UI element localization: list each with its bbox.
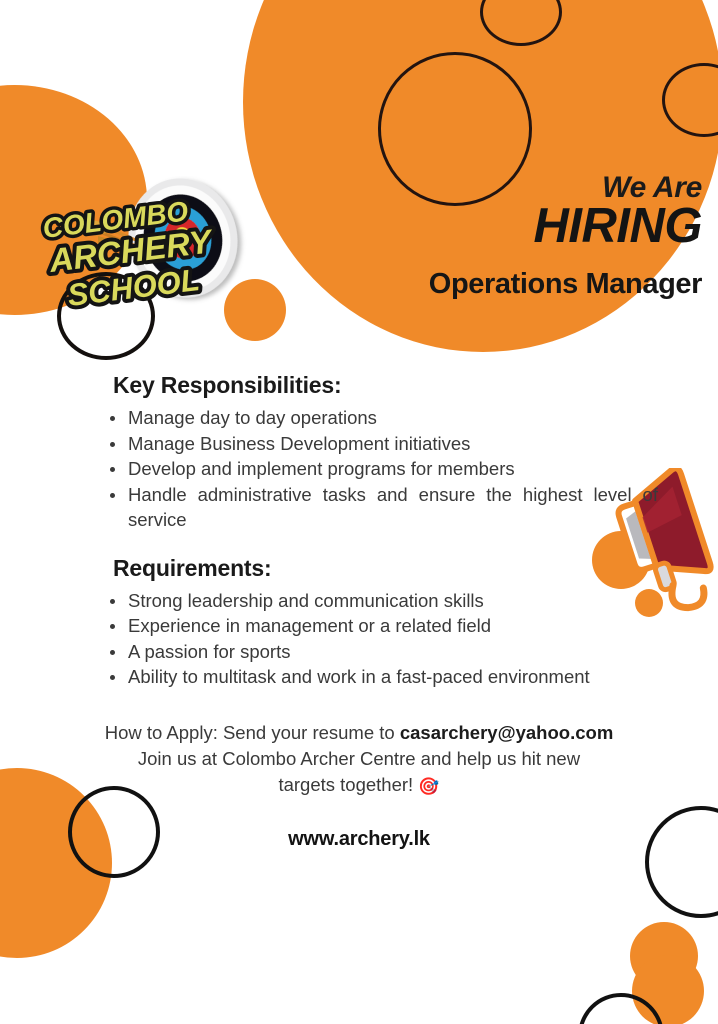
targets-together-line: targets together! 🎯 [0,772,718,800]
requirements-list: Strong leadership and communication skil… [0,588,718,690]
decorative-ring-bottom-edge [578,993,664,1024]
decorative-ring-top-small [480,0,562,46]
website-link[interactable]: www.archery.lk [0,828,718,851]
decorative-circle-bottom-right [630,922,698,990]
flyer-body: Key Responsibilities: Manage day to day … [0,372,718,692]
responsibilities-section: Key Responsibilities: Manage day to day … [0,372,718,533]
requirements-section: Requirements: Strong leadership and comm… [0,555,718,690]
list-item: Manage Business Development initiatives [110,431,658,457]
how-to-apply-line: How to Apply: Send your resume to casarc… [0,720,718,746]
apply-prefix-text: How to Apply: Send your resume to [105,722,400,743]
header-block: We Are HIRING Operations Manager [330,172,702,301]
list-item: Strong leadership and communication skil… [110,588,658,614]
targets-text: targets together! [278,774,418,795]
list-item: Handle administrative tasks and ensure t… [110,482,658,533]
list-item: Manage day to day operations [110,405,658,431]
list-item: Develop and implement programs for membe… [110,456,658,482]
responsibilities-list: Manage day to day operations Manage Busi… [0,405,718,533]
requirements-heading: Requirements: [113,555,718,582]
decorative-ring-top-right [662,63,718,137]
decorative-circle-bottom-edge [632,955,704,1024]
join-us-line: Join us at Colombo Archer Centre and hel… [0,746,718,772]
responsibilities-heading: Key Responsibilities: [113,372,718,399]
colombo-archery-school-logo: COLOMBO COLOMBO ARCHERY ARCHERY SCHOOL S… [33,176,248,326]
list-item: Ability to multitask and work in a fast-… [110,664,658,690]
target-emoji-icon: 🎯 [418,777,439,796]
job-posting-flyer: COLOMBO COLOMBO ARCHERY ARCHERY SCHOOL S… [0,0,718,1024]
footer-block: How to Apply: Send your resume to casarc… [0,720,718,851]
apply-email-link[interactable]: casarchery@yahoo.com [400,722,613,743]
list-item: Experience in management or a related fi… [110,613,658,639]
list-item: A passion for sports [110,639,658,665]
page-title: Operations Manager [330,268,702,301]
hiring-headline: HIRING [330,202,702,252]
